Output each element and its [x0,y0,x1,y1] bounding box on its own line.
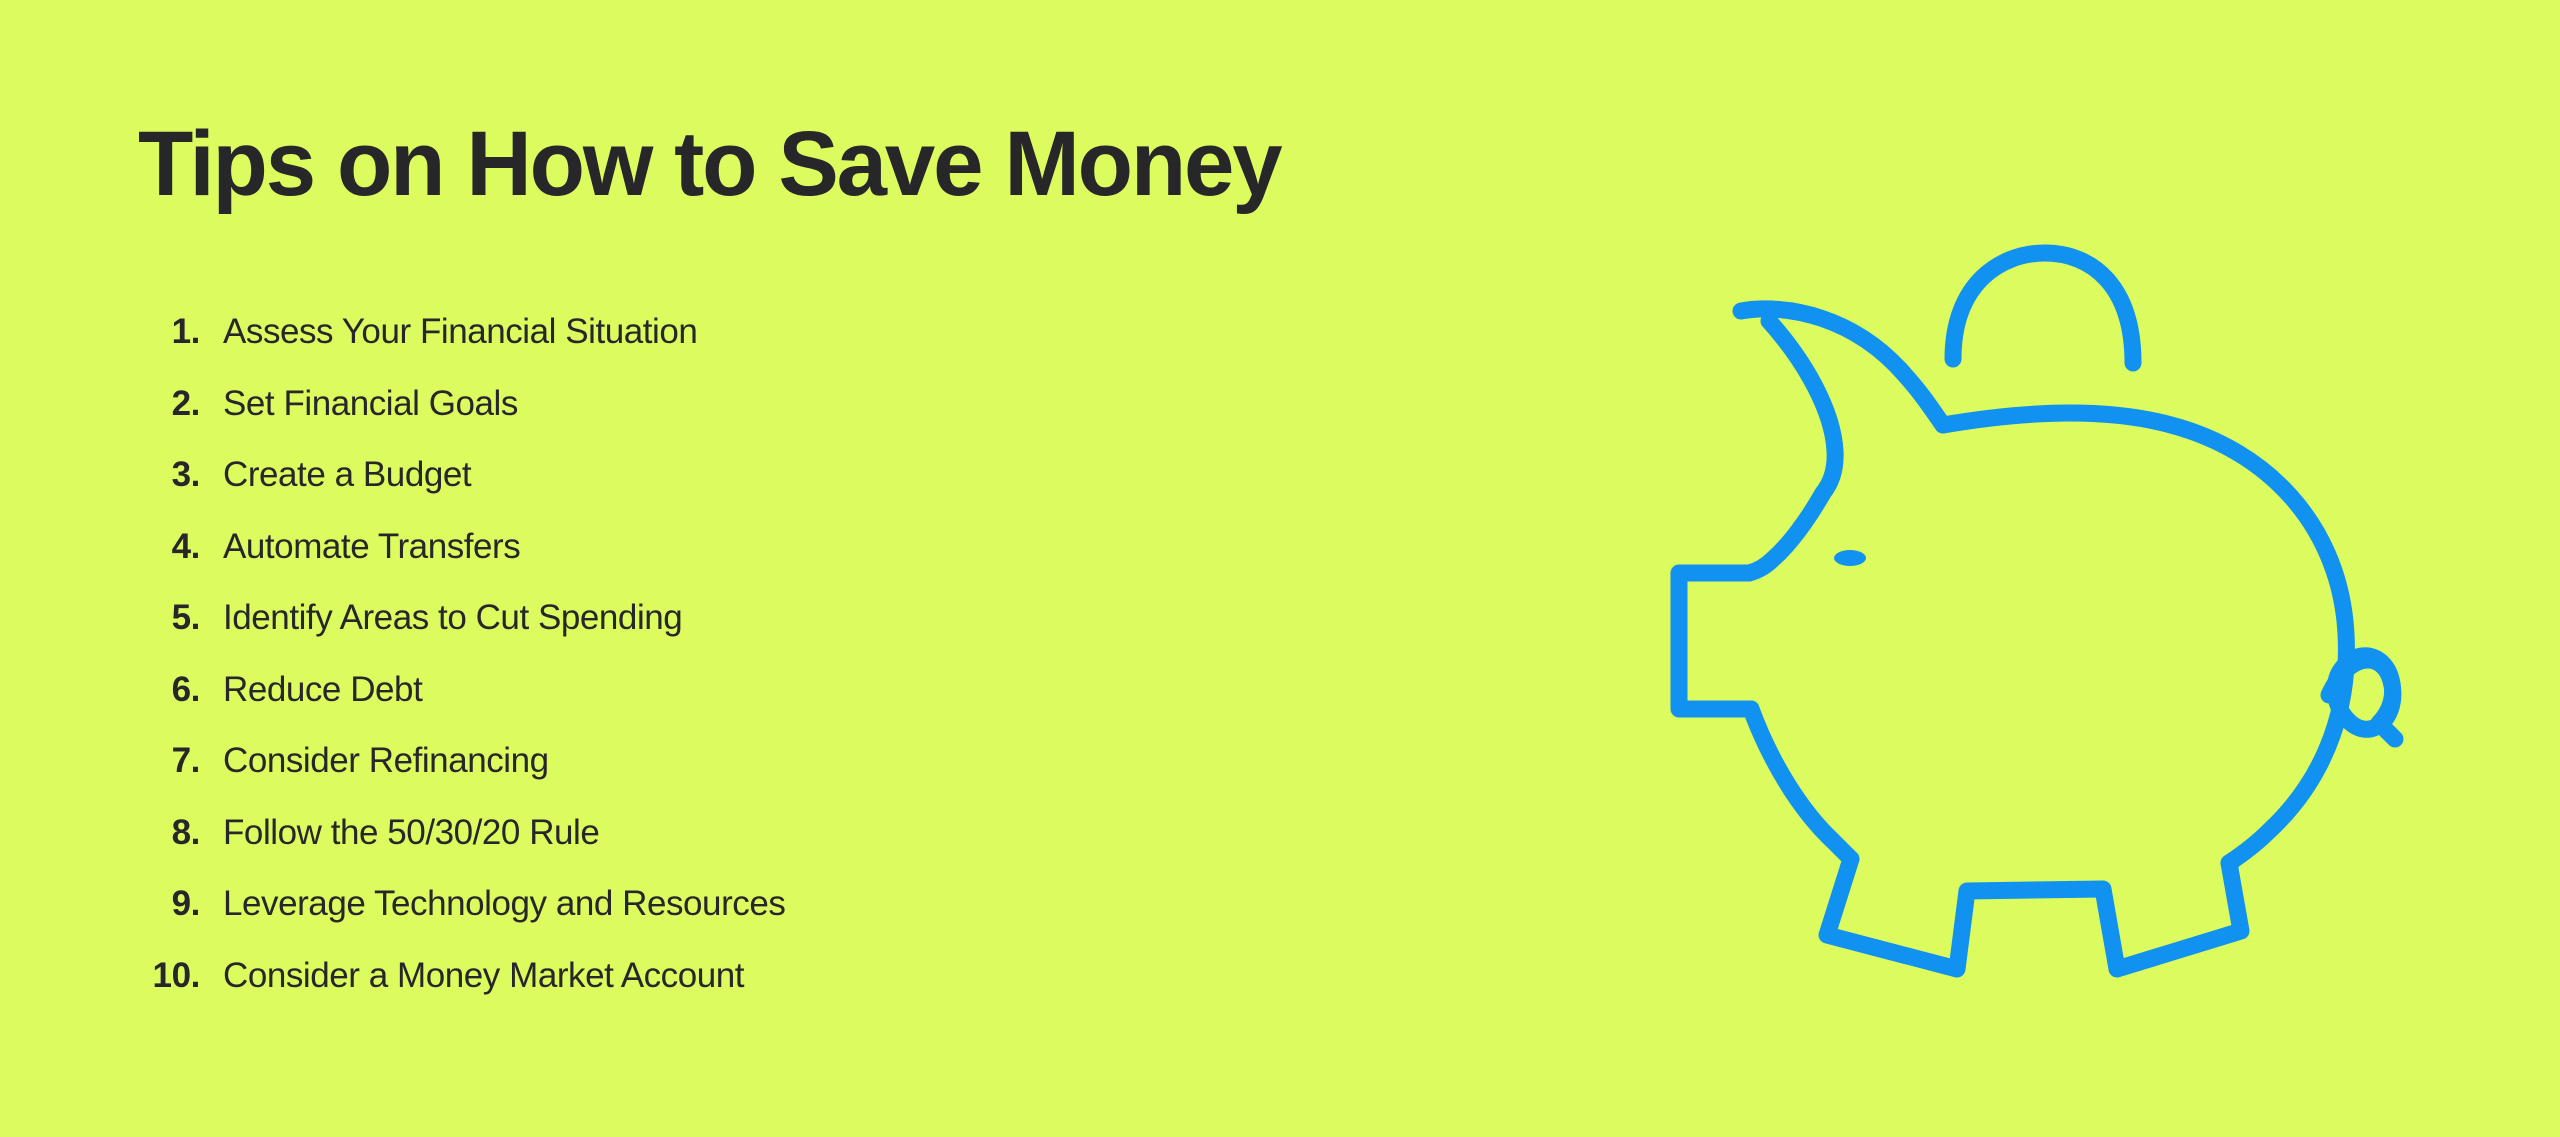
list-item-label: Set Financial Goals [200,384,1228,424]
list-item-label: Automate Transfers [200,527,1228,567]
list-item: 5. Identify Areas to Cut Spending [128,598,1228,670]
page-title: Tips on How to Save Money [138,118,1281,210]
list-item-number: 5. [128,598,200,638]
coin-slot-icon [1953,253,2133,363]
list-item-number: 6. [128,670,200,710]
body-outline-back [1943,413,2346,863]
list-item: 6. Reduce Debt [128,670,1228,742]
list-item-label: Leverage Technology and Resources [200,884,1228,924]
poster-canvas: Tips on How to Save Money 1. Assess Your… [0,0,2560,1137]
list-item-label: Follow the 50/30/20 Rule [200,813,1228,853]
list-item-number: 2. [128,384,200,424]
list-item-label: Reduce Debt [200,670,1228,710]
piggy-bank-icon [1655,225,2415,905]
list-item-number: 9. [128,884,200,924]
list-item-number: 7. [128,741,200,781]
list-item: 1. Assess Your Financial Situation [128,312,1228,384]
list-item-number: 3. [128,455,200,495]
piggy-bank-illustration [1655,225,2415,905]
list-item: 3. Create a Budget [128,455,1228,527]
list-item-number: 1. [128,312,200,352]
eye-icon [1834,550,1866,566]
list-item-number: 10. [128,956,200,996]
jaw-curve [1751,709,1851,859]
list-item-label: Identify Areas to Cut Spending [200,598,1228,638]
list-item: 10. Consider a Money Market Account [128,956,1228,1028]
legs-shape [1827,859,2241,969]
head-front-curve [1749,493,1823,573]
list-item-label: Assess Your Financial Situation [200,312,1228,352]
list-item-number: 8. [128,813,200,853]
list-item: 2. Set Financial Goals [128,384,1228,456]
tips-list: 1. Assess Your Financial Situation 2. Se… [128,312,1228,1027]
list-item: 9. Leverage Technology and Resources [128,884,1228,956]
list-item-label: Create a Budget [200,455,1228,495]
snout-shape [1679,573,1751,709]
list-item-number: 4. [128,527,200,567]
list-item: 7. Consider Refinancing [128,741,1228,813]
ear-inner-shape [1769,321,1835,493]
list-item: 8. Follow the 50/30/20 Rule [128,813,1228,885]
list-item: 4. Automate Transfers [128,527,1228,599]
list-item-label: Consider Refinancing [200,741,1228,781]
list-item-label: Consider a Money Market Account [200,956,1228,996]
